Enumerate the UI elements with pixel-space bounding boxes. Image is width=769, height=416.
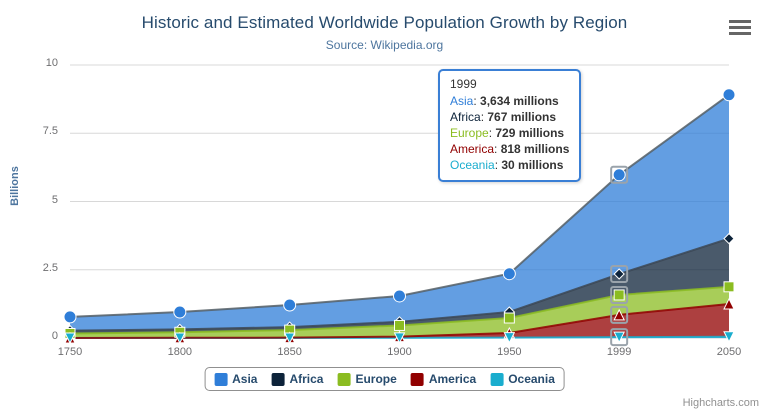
data-point-marker <box>504 313 514 323</box>
tooltip-series-value: 3,634 millions <box>480 94 559 108</box>
tooltip-series-value: 767 millions <box>487 110 556 124</box>
legend-item-oceania[interactable]: Oceania <box>490 372 555 386</box>
tooltip-row-asia: Asia: 3,634 millions <box>450 93 569 109</box>
legend-label: Oceania <box>508 372 555 386</box>
tooltip-row-africa: Africa: 767 millions <box>450 109 569 125</box>
data-point-marker <box>395 320 405 330</box>
y-axis-tick-label: 5 <box>10 194 58 206</box>
y-axis-tick-label: 0 <box>10 330 58 342</box>
legend-label: Africa <box>289 372 323 386</box>
data-point-marker <box>64 311 76 323</box>
x-axis-tick-label: 1999 <box>579 346 659 358</box>
data-point-marker <box>394 290 406 302</box>
x-axis-tick-label: 1800 <box>140 346 220 358</box>
tooltip-series-name: America <box>450 142 494 156</box>
x-axis-tick-label: 1850 <box>250 346 330 358</box>
legend-swatch-africa <box>271 373 284 386</box>
tooltip-rows: Asia: 3,634 millionsAfrica: 767 millions… <box>450 93 569 173</box>
legend-swatch-europe <box>337 373 350 386</box>
tooltip-series-name: Asia <box>450 94 473 108</box>
legend-swatch-oceania <box>490 373 503 386</box>
data-point-marker <box>723 89 735 101</box>
x-axis-tick-label: 1950 <box>469 346 549 358</box>
tooltip-series-name: Europe <box>450 126 489 140</box>
tooltip-series-value: 818 millions <box>501 142 570 156</box>
highcharts-credits[interactable]: Highcharts.com <box>683 397 759 409</box>
legend-swatch-asia <box>214 373 227 386</box>
legend-label: Asia <box>232 372 257 386</box>
x-axis-tick-label: 2050 <box>689 346 769 358</box>
legend-swatch-america <box>411 373 424 386</box>
tooltip-series-name: Africa <box>450 110 481 124</box>
tooltip-separator: : <box>494 142 501 156</box>
tooltip-series-value: 729 millions <box>495 126 564 140</box>
tooltip-row-america: America: 818 millions <box>450 141 569 157</box>
data-point-marker <box>174 306 186 318</box>
highcharts-chart: Historic and Estimated Worldwide Populat… <box>0 0 769 416</box>
tooltip-row-europe: Europe: 729 millions <box>450 125 569 141</box>
legend-label: Europe <box>355 372 396 386</box>
legend-item-america[interactable]: America <box>411 372 476 386</box>
tooltip-series-name: Oceania <box>450 158 495 172</box>
y-axis-tick-label: 7.5 <box>10 125 58 137</box>
data-point-marker <box>503 268 515 280</box>
y-axis-tick-label: 2.5 <box>10 262 58 274</box>
data-point-marker <box>284 299 296 311</box>
data-point-marker <box>724 282 734 292</box>
legend-label: America <box>429 372 476 386</box>
y-axis-tick-label: 10 <box>10 57 58 69</box>
legend-item-asia[interactable]: Asia <box>214 372 257 386</box>
legend-item-africa[interactable]: Africa <box>271 372 323 386</box>
tooltip-row-oceania: Oceania: 30 millions <box>450 157 569 173</box>
tooltip-separator: : <box>473 94 480 108</box>
tooltip-series-value: 30 millions <box>501 158 563 172</box>
chart-legend: AsiaAfricaEuropeAmericaOceania <box>204 367 565 391</box>
tooltip-header: 1999 <box>450 77 569 91</box>
x-axis-tick-label: 1900 <box>360 346 440 358</box>
x-axis-tick-label: 1750 <box>30 346 110 358</box>
legend-item-europe[interactable]: Europe <box>337 372 396 386</box>
chart-tooltip: 1999 Asia: 3,634 millionsAfrica: 767 mil… <box>438 69 581 182</box>
